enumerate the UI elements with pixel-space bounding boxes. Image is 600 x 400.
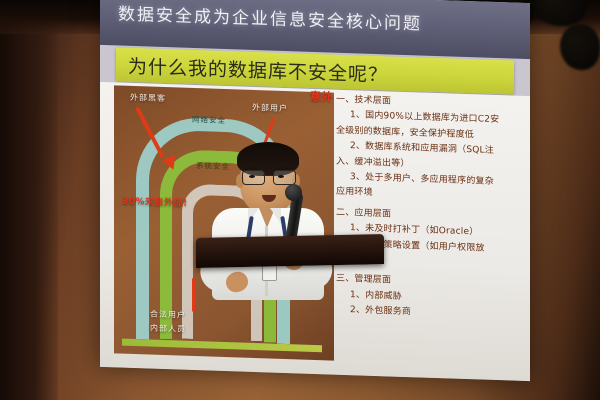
podium-body [202, 262, 378, 400]
label-external-user: 外部用户 [252, 102, 288, 114]
internal-arrow-shaft [192, 278, 195, 312]
conference-photo: 数据安全成为企业信息安全核心问题 为什么我的数据库不安全呢？ 外部黑客 外部用户… [0, 0, 600, 400]
glasses-bridge [263, 175, 273, 176]
label-network-security: 网络安全 [192, 114, 226, 126]
slide-title-text: 为什么我的数据库不安全呢？ [128, 52, 388, 88]
slide-header-title: 数据安全成为企业信息安全核心问题 [118, 0, 422, 35]
right-side-note: 意外 [310, 88, 333, 105]
label-external-hacker: 外部黑客 [130, 92, 166, 104]
lens-right [273, 170, 296, 185]
stat-note-external: 30%来自外部! [122, 194, 188, 209]
collar-right [270, 208, 281, 224]
label-legit-user: 合法用户 [150, 309, 186, 321]
eye-left [249, 175, 255, 178]
eye-right [278, 175, 284, 178]
wall-shadow-left [0, 0, 58, 400]
foliage-icon [560, 24, 600, 70]
label-internal-staff: 内部人员 [150, 323, 186, 335]
